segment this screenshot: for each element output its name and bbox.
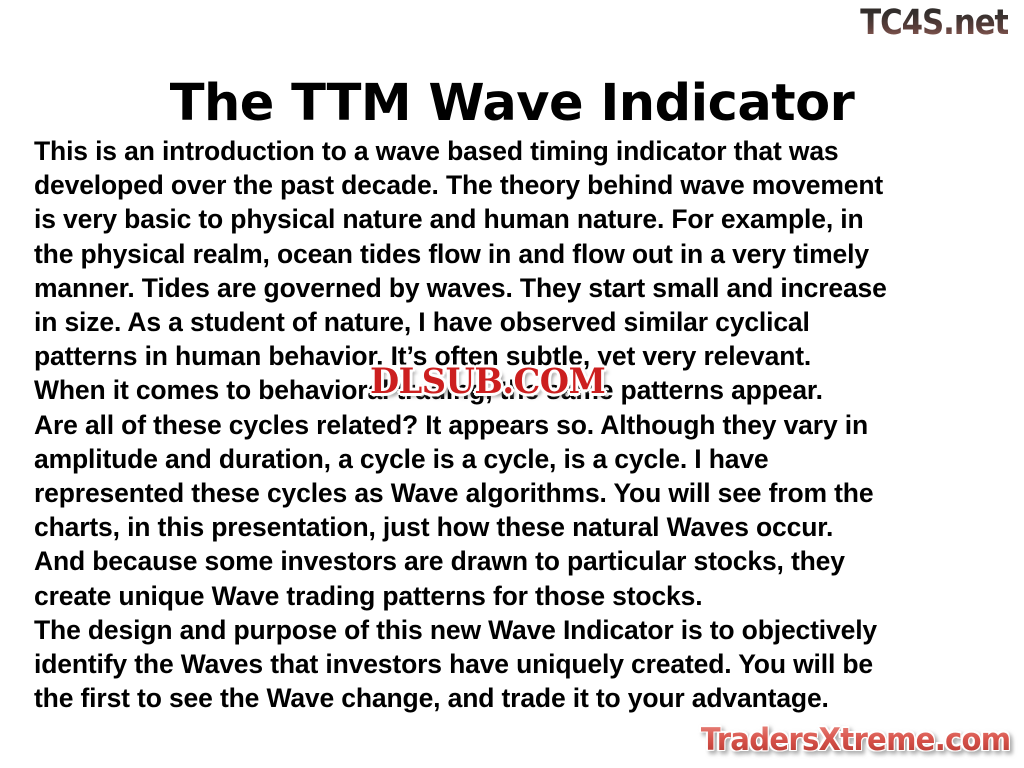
body-line: The design and purpose of this new Wave … — [34, 613, 996, 647]
body-line: is very basic to physical nature and hum… — [34, 202, 996, 236]
body-line: amplitude and duration, a cycle is a cyc… — [34, 442, 996, 476]
body-line: Are all of these cycles related? It appe… — [34, 408, 996, 442]
presentation-slide: TC4S.net The TTM Wave Indicator This is … — [0, 0, 1024, 768]
body-line: represented these cycles as Wave algorit… — [34, 476, 996, 510]
body-line: manner. Tides are governed by waves. The… — [34, 271, 996, 305]
body-line: This is an introduction to a wave based … — [34, 134, 996, 168]
page-title: The TTM Wave Indicator — [0, 74, 1024, 134]
tc4s-brand-logo: TC4S.net — [860, 2, 1008, 44]
body-line: the first to see the Wave change, and tr… — [34, 681, 996, 715]
slide-body-text: This is an introduction to a wave based … — [34, 134, 996, 715]
body-line: charts, in this presentation, just how t… — [34, 510, 996, 544]
body-paragraph-2: The design and purpose of this new Wave … — [34, 613, 996, 716]
tradersxtreme-site-logo: TradersXtreme.com — [700, 722, 1010, 758]
body-line: in size. As a student of nature, I have … — [34, 305, 996, 339]
body-line: And because some investors are drawn to … — [34, 544, 996, 578]
dlsub-watermark: DLSUB.COM — [370, 363, 605, 401]
body-line: identify the Waves that investors have u… — [34, 647, 996, 681]
body-line: developed over the past decade. The theo… — [34, 168, 996, 202]
body-line: the physical realm, ocean tides flow in … — [34, 237, 996, 271]
body-line: create unique Wave trading patterns for … — [34, 579, 996, 613]
